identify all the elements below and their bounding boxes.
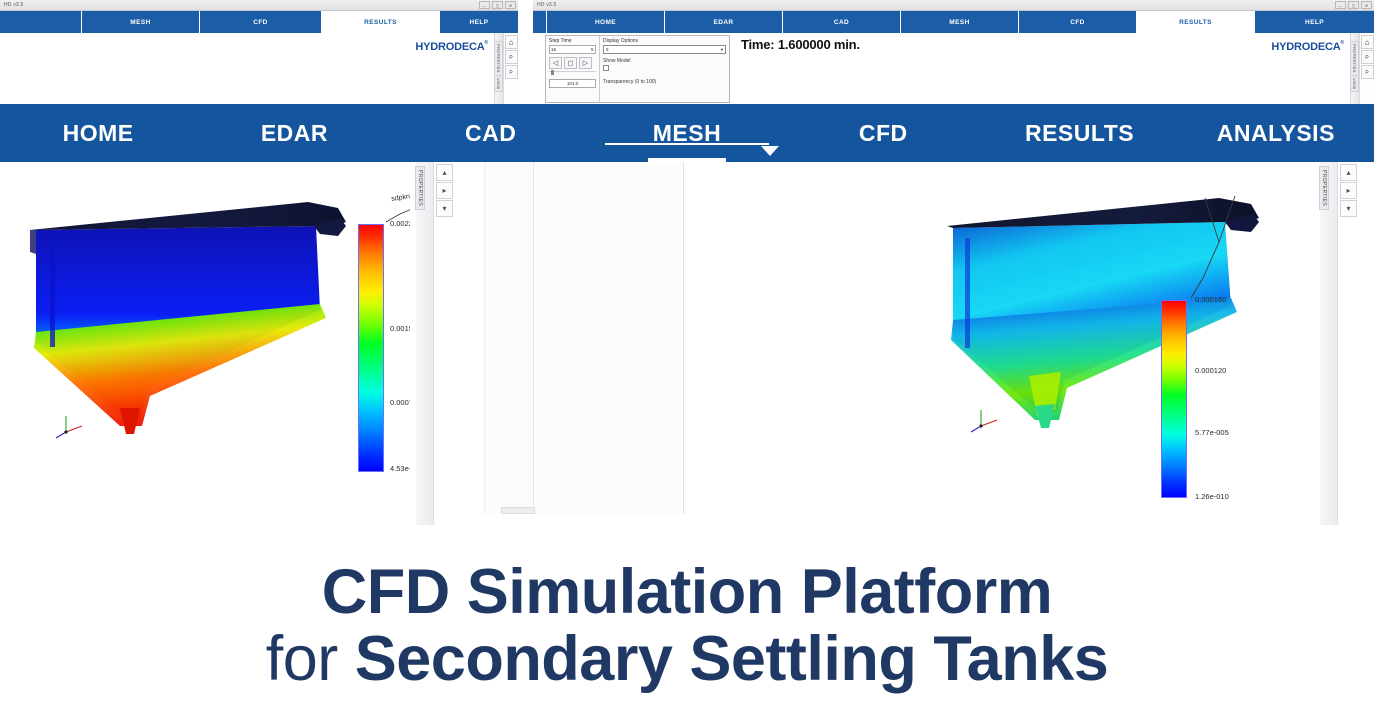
nav-item-cad[interactable]: CAD <box>393 104 589 162</box>
axis-triad-left <box>56 416 82 438</box>
mini-left-tab-results[interactable]: RESULTS <box>322 11 440 33</box>
mini-right-tab-help[interactable]: HELP <box>1255 11 1374 33</box>
nav-label-home: HOME <box>63 120 134 147</box>
collapse-down-icon[interactable]: ▾ <box>1340 200 1357 217</box>
nav-label-edar: EDAR <box>261 120 328 147</box>
tank-top-deck-left <box>30 202 346 230</box>
mesh-empty-panel[interactable] <box>484 162 684 514</box>
page-title-line-2-prefix: for <box>266 624 355 694</box>
nav-label-results: RESULTS <box>1025 120 1134 147</box>
hydrodeca-logo: HYDRODECA <box>1271 41 1340 53</box>
play-icon[interactable]: ▷ <box>579 57 592 69</box>
colorbar-label-mid-high-right: 0.000120 <box>1195 366 1226 375</box>
properties-tab-vertical[interactable]: PROPERTIES <box>1350 41 1359 76</box>
close-icon[interactable]: ✕ <box>505 1 516 9</box>
view-tab-vertical[interactable]: VIEW <box>1350 75 1359 92</box>
colorbar-labels-right: 0.000160 0.000120 5.77e-005 1.26e-010 <box>1191 300 1251 498</box>
slider-readout: 101.0 <box>549 79 596 88</box>
expand-right-icon[interactable]: ▸ <box>436 182 453 199</box>
mini-left-body: HYDRODECA® PROPERTIES VIEW ⌂ ⌕ ⌕ <box>0 33 518 104</box>
home-view-icon[interactable]: ⌂ <box>1361 35 1374 49</box>
nav-item-home[interactable]: HOME <box>0 104 196 162</box>
mini-left-tabbar[interactable]: MESH CFD RESULTS HELP <box>0 11 518 33</box>
viewport-left-rail[interactable]: PROPERTIES ▴ ▸ ▾ <box>410 162 470 525</box>
mini-right-right-rail[interactable]: PROPERTIES VIEW ⌂ ⌕ ⌕ <box>1350 33 1374 104</box>
hydrodeca-trademark-mark: ® <box>1341 40 1344 46</box>
mesh-panel-divider-1 <box>533 162 534 508</box>
transparency-label: Transparency (0 to 100) <box>603 79 726 85</box>
close-icon[interactable]: ✕ <box>1361 1 1372 9</box>
rail-buttons-right[interactable]: ▴ ▸ ▾ <box>1340 164 1357 217</box>
colorbar-right: 0.000160 0.000120 5.77e-005 1.26e-010 <box>1161 300 1251 498</box>
mini-right-tab-spacer <box>533 11 547 33</box>
nav-label-analysis: ANALYSIS <box>1217 120 1335 147</box>
colorbar-gradient-left <box>358 224 384 472</box>
properties-tab-vertical[interactable]: PROPERTIES <box>494 41 503 76</box>
mini-left-title-text: HD v3.5 <box>0 2 23 8</box>
minimize-icon[interactable]: — <box>1335 1 1346 9</box>
top-screenshot-strip: HD v3.5 — ▢ ✕ MESH CFD RESULTS HELP HYDR… <box>0 0 1374 104</box>
mini-right-tab-results[interactable]: RESULTS <box>1137 11 1255 33</box>
mini-right-tab-cad[interactable]: CAD <box>783 11 901 33</box>
chevron-down-icon[interactable]: ▾ <box>721 47 723 53</box>
nav-item-cfd[interactable]: CFD <box>785 104 981 162</box>
colorbar-leader-line-right <box>1185 182 1245 302</box>
maximize-icon[interactable]: ▢ <box>492 1 503 9</box>
nav-label-cad: CAD <box>465 120 516 147</box>
mini-right-tab-edar[interactable]: EDAR <box>665 11 783 33</box>
show-model-checkbox[interactable] <box>603 65 609 71</box>
viewport-right[interactable]: 0.000160 0.000120 5.77e-005 1.26e-010 PR… <box>945 162 1374 525</box>
mini-right-title-text: HD v3.5 <box>533 2 556 8</box>
simulation-time-readout: Time: 1.600000 min. <box>741 37 860 52</box>
home-view-icon[interactable]: ⌂ <box>505 35 518 49</box>
stop-icon[interactable]: ◻ <box>564 57 577 69</box>
expand-right-icon[interactable]: ▸ <box>1340 182 1357 199</box>
mini-right-tab-cfd[interactable]: CFD <box>1019 11 1137 33</box>
nav-item-results[interactable]: RESULTS <box>981 104 1177 162</box>
mini-left-tab-spacer <box>0 11 82 33</box>
zoom-out-icon[interactable]: ⌕ <box>505 65 518 79</box>
zoom-in-icon[interactable]: ⌕ <box>505 50 518 64</box>
mini-right-tabbar[interactable]: HOME EDAR CAD MESH CFD RESULTS HELP <box>533 11 1374 33</box>
mini-right-body: Step Time 16 ⇅ ◁ ◻ ▷ 101.0 Display Optio… <box>533 33 1374 104</box>
mini-left-tab-mesh[interactable]: MESH <box>82 11 200 33</box>
mini-right-rail-strip: PROPERTIES VIEW <box>1350 33 1359 104</box>
maximize-icon[interactable]: ▢ <box>1348 1 1359 9</box>
page-title-line-2: for Secondary Settling Tanks <box>266 626 1109 693</box>
nav-item-mesh[interactable]: MESH <box>589 104 785 162</box>
mini-right-titlebar: HD v3.5 — ▢ ✕ <box>533 0 1374 11</box>
viewport-right-rail[interactable]: PROPERTIES ▴ ▸ ▾ <box>1314 162 1374 525</box>
step-time-label: Step Time <box>549 38 596 44</box>
step-time-stepper[interactable]: 16 ⇅ <box>549 45 596 54</box>
hydrodeca-trademark-mark: ® <box>485 40 488 46</box>
minimize-icon[interactable]: — <box>479 1 490 9</box>
playback-buttons[interactable]: ◁ ◻ ▷ <box>549 57 596 69</box>
display-options-select[interactable]: 5 ▾ <box>603 45 726 54</box>
mini-right-tab-mesh[interactable]: MESH <box>901 11 1019 33</box>
colorbar-label-min-right: 1.26e-010 <box>1195 492 1229 501</box>
mini-right-window-controls[interactable]: — ▢ ✕ <box>1335 1 1372 9</box>
spinner-arrows-icon[interactable]: ⇅ <box>591 47 594 52</box>
viewport-mid[interactable] <box>470 162 945 525</box>
display-options-value: 5 <box>606 47 609 52</box>
show-model-label: Show Model <box>603 58 726 64</box>
properties-tab-vertical[interactable]: PROPERTIES <box>1319 166 1329 210</box>
display-options-column: Display Options 5 ▾ Show Model Transpare… <box>600 36 729 102</box>
nav-label-cfd: CFD <box>859 120 908 147</box>
rail-strip-left <box>416 162 434 525</box>
viewport-left[interactable]: sdpkruatvrbye 0.00227 0.00157 0.000764 4… <box>0 162 470 525</box>
nav-item-edar[interactable]: EDAR <box>196 104 392 162</box>
collapse-up-icon[interactable]: ▴ <box>1340 164 1357 181</box>
axis-triad-right <box>971 410 997 432</box>
workspace: sdpkruatvrbye 0.00227 0.00157 0.000764 4… <box>0 162 1374 525</box>
page-title-line-2-rest: Secondary Settling Tanks <box>355 624 1109 694</box>
rail-buttons-left[interactable]: ▴ ▸ ▾ <box>436 164 453 217</box>
colorbar-label-mid-low-right: 5.77e-005 <box>1195 428 1229 437</box>
mini-left-right-rail[interactable]: PROPERTIES VIEW ⌂ ⌕ ⌕ <box>494 33 518 104</box>
mini-right-rail-buttons[interactable]: ⌂ ⌕ ⌕ <box>1359 33 1374 104</box>
view-tab-vertical[interactable]: VIEW <box>494 75 503 92</box>
mini-left-rail-strip: PROPERTIES VIEW <box>494 33 503 104</box>
collapse-down-icon[interactable]: ▾ <box>436 200 453 217</box>
mini-window-left: HD v3.5 — ▢ ✕ MESH CFD RESULTS HELP HYDR… <box>0 0 518 104</box>
mini-left-rail-buttons[interactable]: ⌂ ⌕ ⌕ <box>503 33 518 104</box>
colorbar-gradient-right <box>1161 300 1187 498</box>
mini-left-window-controls[interactable]: — ▢ ✕ <box>479 1 516 9</box>
colorbar-label-max-right: 0.000160 <box>1195 295 1226 304</box>
mini-right-tab-home[interactable]: HOME <box>547 11 665 33</box>
tank-geometry-left <box>8 182 348 442</box>
mini-left-tab-help[interactable]: HELP <box>440 11 518 33</box>
title-block: CFD Simulation Platform for Secondary Se… <box>0 525 1374 727</box>
display-options-label: Display Options <box>603 38 726 44</box>
main-navigation-bar[interactable]: HOME EDAR CAD MESH CFD RESULTS ANALYSIS <box>0 104 1374 162</box>
zoom-in-icon[interactable]: ⌕ <box>1361 50 1374 64</box>
step-time-value: 16 <box>551 47 556 52</box>
results-control-panel[interactable]: Step Time 16 ⇅ ◁ ◻ ▷ 101.0 Display Optio… <box>545 35 730 103</box>
step-time-column: Step Time 16 ⇅ ◁ ◻ ▷ 101.0 <box>546 36 600 102</box>
zoom-out-icon[interactable]: ⌕ <box>1361 65 1374 79</box>
time-slider[interactable] <box>549 71 596 77</box>
properties-tab-vertical[interactable]: PROPERTIES <box>415 166 425 210</box>
rail-strip-right <box>1320 162 1338 525</box>
nav-active-underline <box>605 143 770 145</box>
chevron-down-icon[interactable] <box>761 146 779 156</box>
mini-left-titlebar: HD v3.5 — ▢ ✕ <box>0 0 518 11</box>
page-title-line-1: CFD Simulation Platform <box>322 559 1053 626</box>
mini-left-tab-cfd[interactable]: CFD <box>200 11 322 33</box>
tank-render-left[interactable] <box>8 182 348 442</box>
hydrodeca-logo: HYDRODECA <box>415 41 484 53</box>
collapse-up-icon[interactable]: ▴ <box>436 164 453 181</box>
nav-item-analysis[interactable]: ANALYSIS <box>1178 104 1374 162</box>
mesh-panel-scroll-stub[interactable] <box>501 507 535 514</box>
step-back-icon[interactable]: ◁ <box>549 57 562 69</box>
mini-window-right: HD v3.5 — ▢ ✕ HOME EDAR CAD MESH CFD RES… <box>533 0 1374 104</box>
